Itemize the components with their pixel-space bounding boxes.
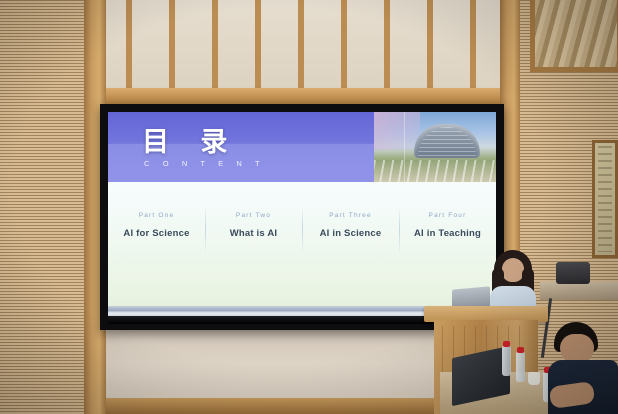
part-title: AI in Science: [302, 228, 399, 239]
water-bottle: [516, 352, 525, 382]
bottle-cap: [517, 347, 524, 353]
slide-header-band: 目 录 C O N T E N T: [108, 112, 496, 182]
upper-transom-window: [86, 0, 516, 96]
lecture-hall-photo: 目 录 C O N T E N T Part One AI for Scienc…: [0, 0, 618, 414]
contents-item-1: Part One AI for Science: [108, 208, 205, 239]
transom-pane: [390, 0, 427, 96]
projection-screen: 目 录 C O N T E N T Part One AI for Scienc…: [100, 104, 504, 330]
presentation-slide: 目 录 C O N T E N T Part One AI for Scienc…: [108, 112, 496, 316]
part-kicker: Part Three: [302, 212, 399, 219]
glass-building: [414, 124, 480, 158]
transom-pane: [347, 0, 384, 96]
contents-item-2: Part Two What is AI: [205, 208, 302, 239]
slide-title-english: C O N T E N T: [144, 159, 265, 168]
water-bottle: [502, 346, 511, 376]
paper-cup: [528, 372, 540, 385]
sky-haze: [374, 112, 420, 150]
transom-pane: [218, 0, 255, 96]
contents-item-4: Part Four AI in Teaching: [399, 208, 496, 239]
transom-pane: [304, 0, 341, 96]
part-kicker: Part Four: [399, 212, 496, 219]
part-title: What is AI: [205, 228, 302, 239]
transom-pane: [132, 0, 169, 96]
transom-pane: [433, 0, 470, 96]
back-counter: [540, 282, 618, 300]
presenter-face: [502, 258, 524, 282]
slide-title-chinese: 目 录: [142, 120, 238, 159]
part-kicker: Part Two: [205, 212, 302, 219]
av-equipment: [556, 262, 590, 284]
framed-calligraphy-scroll: [592, 140, 618, 258]
bottle-cap: [503, 341, 510, 347]
part-title: AI for Science: [108, 228, 205, 239]
seated-attendee: [548, 322, 618, 414]
landscape-ground: [374, 160, 496, 182]
part-kicker: Part One: [108, 212, 205, 219]
transom-pane: [175, 0, 212, 96]
photo-seam: [404, 112, 405, 182]
campus-building-photo: [374, 112, 496, 182]
left-slat-wall: [0, 0, 86, 414]
transom-pane: [261, 0, 298, 96]
part-title: AI in Teaching: [399, 228, 496, 239]
contents-columns: Part One AI for Science Part Two What is…: [108, 208, 496, 264]
contents-item-3: Part Three AI in Science: [302, 208, 399, 239]
curtained-alcove: [530, 0, 618, 72]
